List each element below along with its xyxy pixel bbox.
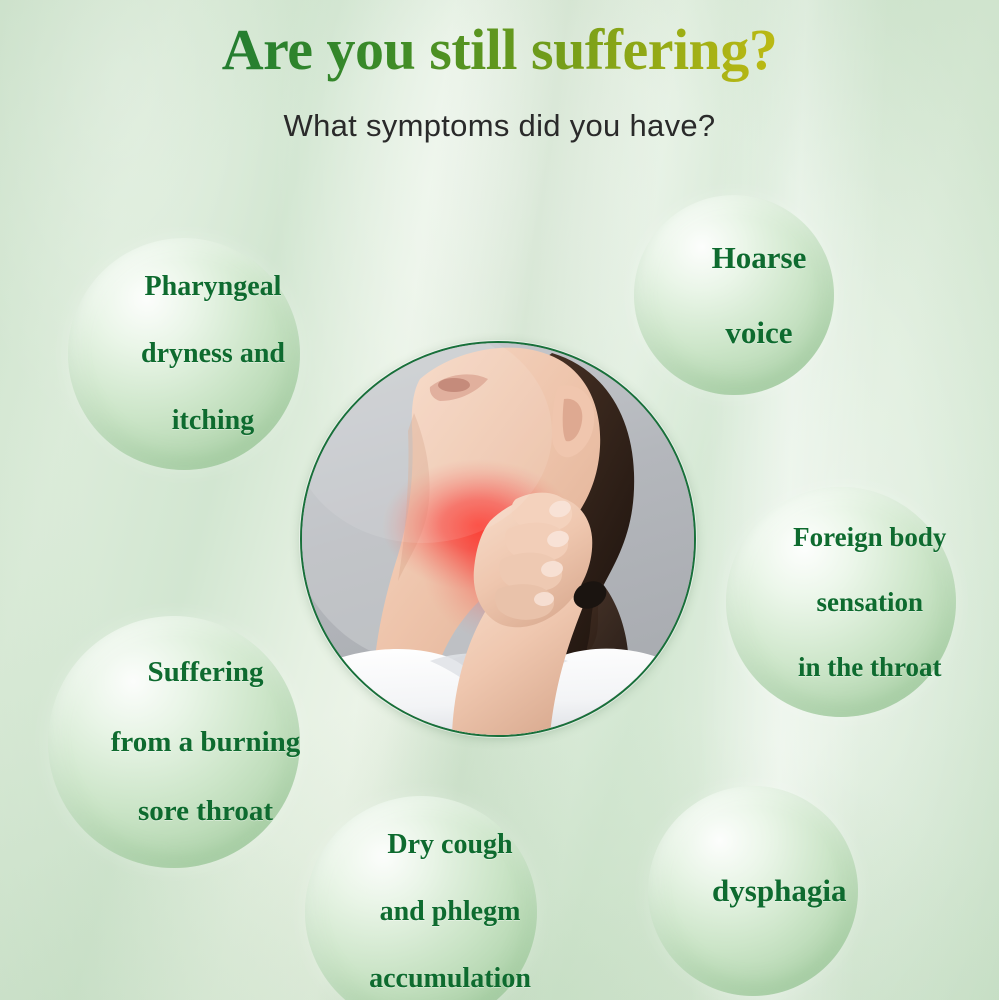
symptom-line: Pharyngeal xyxy=(68,270,358,304)
poster-title: Are you still suffering? xyxy=(0,18,999,82)
symptom-line: accumulation xyxy=(305,962,595,996)
symptom-bubble-pharyngeal[interactable]: Pharyngeal dryness and itching xyxy=(68,238,300,470)
symptom-line: dryness and xyxy=(68,337,358,371)
symptom-line: dysphagia xyxy=(648,872,911,909)
symptom-label-burning-sore-throat: Suffering from a burning sore throat xyxy=(48,655,300,829)
symptom-label-hoarse-voice: Hoarse voice xyxy=(634,239,834,351)
symptom-bubble-dysphagia[interactable]: dysphagia xyxy=(648,786,858,996)
symptom-bubble-burning-sore-throat[interactable]: Suffering from a burning sore throat xyxy=(48,616,300,868)
symptom-line: Foreign body xyxy=(726,521,999,553)
symptom-line: sore throat xyxy=(48,794,363,829)
symptom-label-pharyngeal: Pharyngeal dryness and itching xyxy=(68,270,300,438)
symptom-line: itching xyxy=(68,404,358,438)
symptom-line: from a burning xyxy=(48,725,363,760)
symptom-label-dry-cough: Dry cough and phlegm accumulation xyxy=(305,828,537,996)
symptom-line: and phlegm xyxy=(305,895,595,929)
symptom-line: Suffering xyxy=(48,655,363,690)
poster-subtitle: What symptoms did you have? xyxy=(0,108,999,144)
symptom-line: sensation xyxy=(726,586,999,618)
symptom-line: in the throat xyxy=(726,651,999,683)
symptom-poster: Are you still suffering? What symptoms d… xyxy=(0,0,999,1000)
symptom-bubble-hoarse-voice[interactable]: Hoarse voice xyxy=(634,195,834,395)
symptom-label-dysphagia: dysphagia xyxy=(648,872,858,909)
symptom-label-foreign-body: Foreign body sensation in the throat xyxy=(726,521,956,683)
symptom-line: voice xyxy=(634,314,884,351)
symptom-bubble-foreign-body[interactable]: Foreign body sensation in the throat xyxy=(726,487,956,717)
symptom-line: Dry cough xyxy=(305,828,595,862)
symptom-line: Hoarse xyxy=(634,239,884,276)
